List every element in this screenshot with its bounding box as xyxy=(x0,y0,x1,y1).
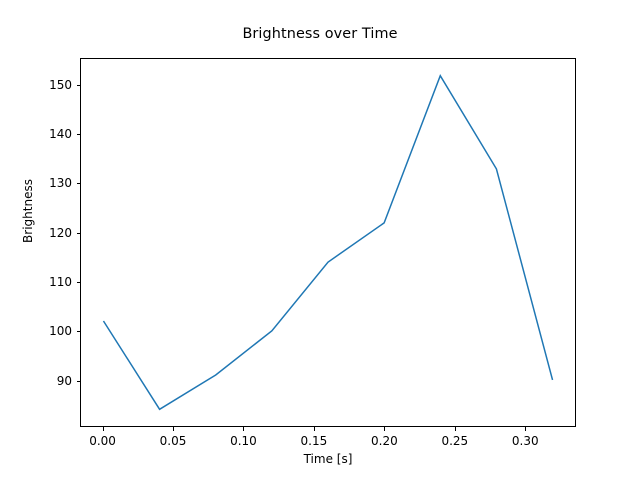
x-tick-mark xyxy=(243,427,244,431)
plot-area xyxy=(80,58,576,427)
x-tick-label: 0.30 xyxy=(512,434,539,448)
x-tick-label: 0.25 xyxy=(441,434,468,448)
x-tick-mark xyxy=(173,427,174,431)
x-tick-label: 0.00 xyxy=(89,434,116,448)
x-tick-mark xyxy=(314,427,315,431)
y-axis-label: Brightness xyxy=(21,136,35,286)
y-tick-mark xyxy=(77,183,81,184)
x-axis-label: Time [s] xyxy=(80,452,576,466)
y-tick-mark xyxy=(77,381,81,382)
figure-canvas: Brightness over Time 9010011012013014015… xyxy=(0,0,640,480)
y-tick-mark xyxy=(77,282,81,283)
x-tick-mark xyxy=(525,427,526,431)
x-tick-label: 0.15 xyxy=(301,434,328,448)
series-line-brightness xyxy=(103,76,552,410)
x-tick-label: 0.05 xyxy=(160,434,187,448)
y-tick-label: 100 xyxy=(24,324,72,338)
data-line-svg xyxy=(81,59,575,426)
y-tick-label: 90 xyxy=(24,374,72,388)
x-tick-label: 0.20 xyxy=(371,434,398,448)
x-tick-mark xyxy=(103,427,104,431)
y-tick-mark xyxy=(77,85,81,86)
y-tick-mark xyxy=(77,233,81,234)
y-tick-label: 150 xyxy=(24,78,72,92)
x-tick-label: 0.10 xyxy=(230,434,257,448)
y-tick-mark xyxy=(77,331,81,332)
x-tick-mark xyxy=(384,427,385,431)
y-tick-mark xyxy=(77,134,81,135)
chart-title: Brightness over Time xyxy=(0,26,640,42)
x-tick-mark xyxy=(455,427,456,431)
